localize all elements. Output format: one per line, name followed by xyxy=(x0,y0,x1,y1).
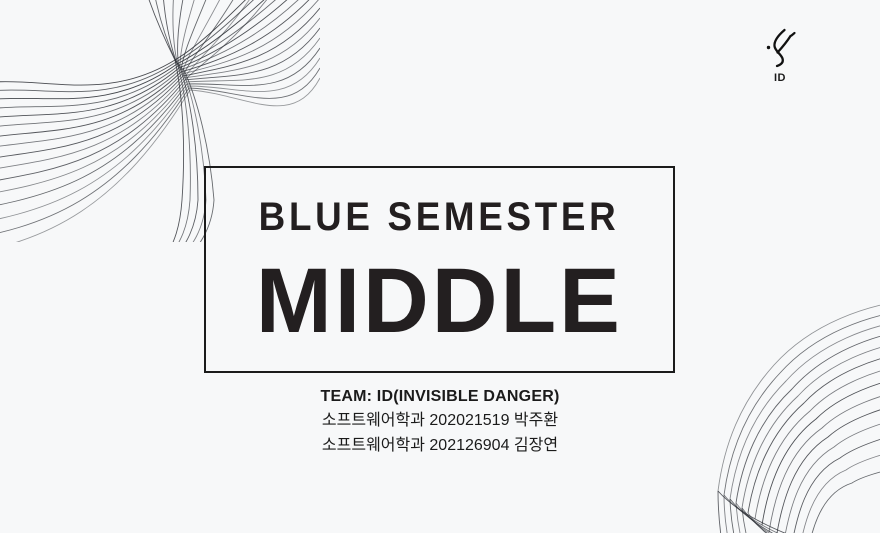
id-monogram-icon xyxy=(757,24,803,70)
logo: ID xyxy=(742,24,818,84)
member-1: 소프트웨어학과 202021519 박주환 xyxy=(0,409,880,434)
member-2: 소프트웨어학과 202126904 김장연 xyxy=(0,434,880,459)
title-line-top: BLUE SEMESTER xyxy=(259,197,620,237)
title-card: BLUE SEMESTER MIDDLE xyxy=(204,166,675,373)
team-name: TEAM: ID(INVISIBLE DANGER) xyxy=(0,386,880,409)
logo-label: ID xyxy=(742,73,818,84)
title-line-main: MIDDLE xyxy=(256,255,623,347)
credits-block: TEAM: ID(INVISIBLE DANGER) 소프트웨어학과 20202… xyxy=(0,386,880,458)
title-slide: ID BLUE SEMESTER MIDDLE TEAM: ID(INVISIB… xyxy=(0,0,880,533)
